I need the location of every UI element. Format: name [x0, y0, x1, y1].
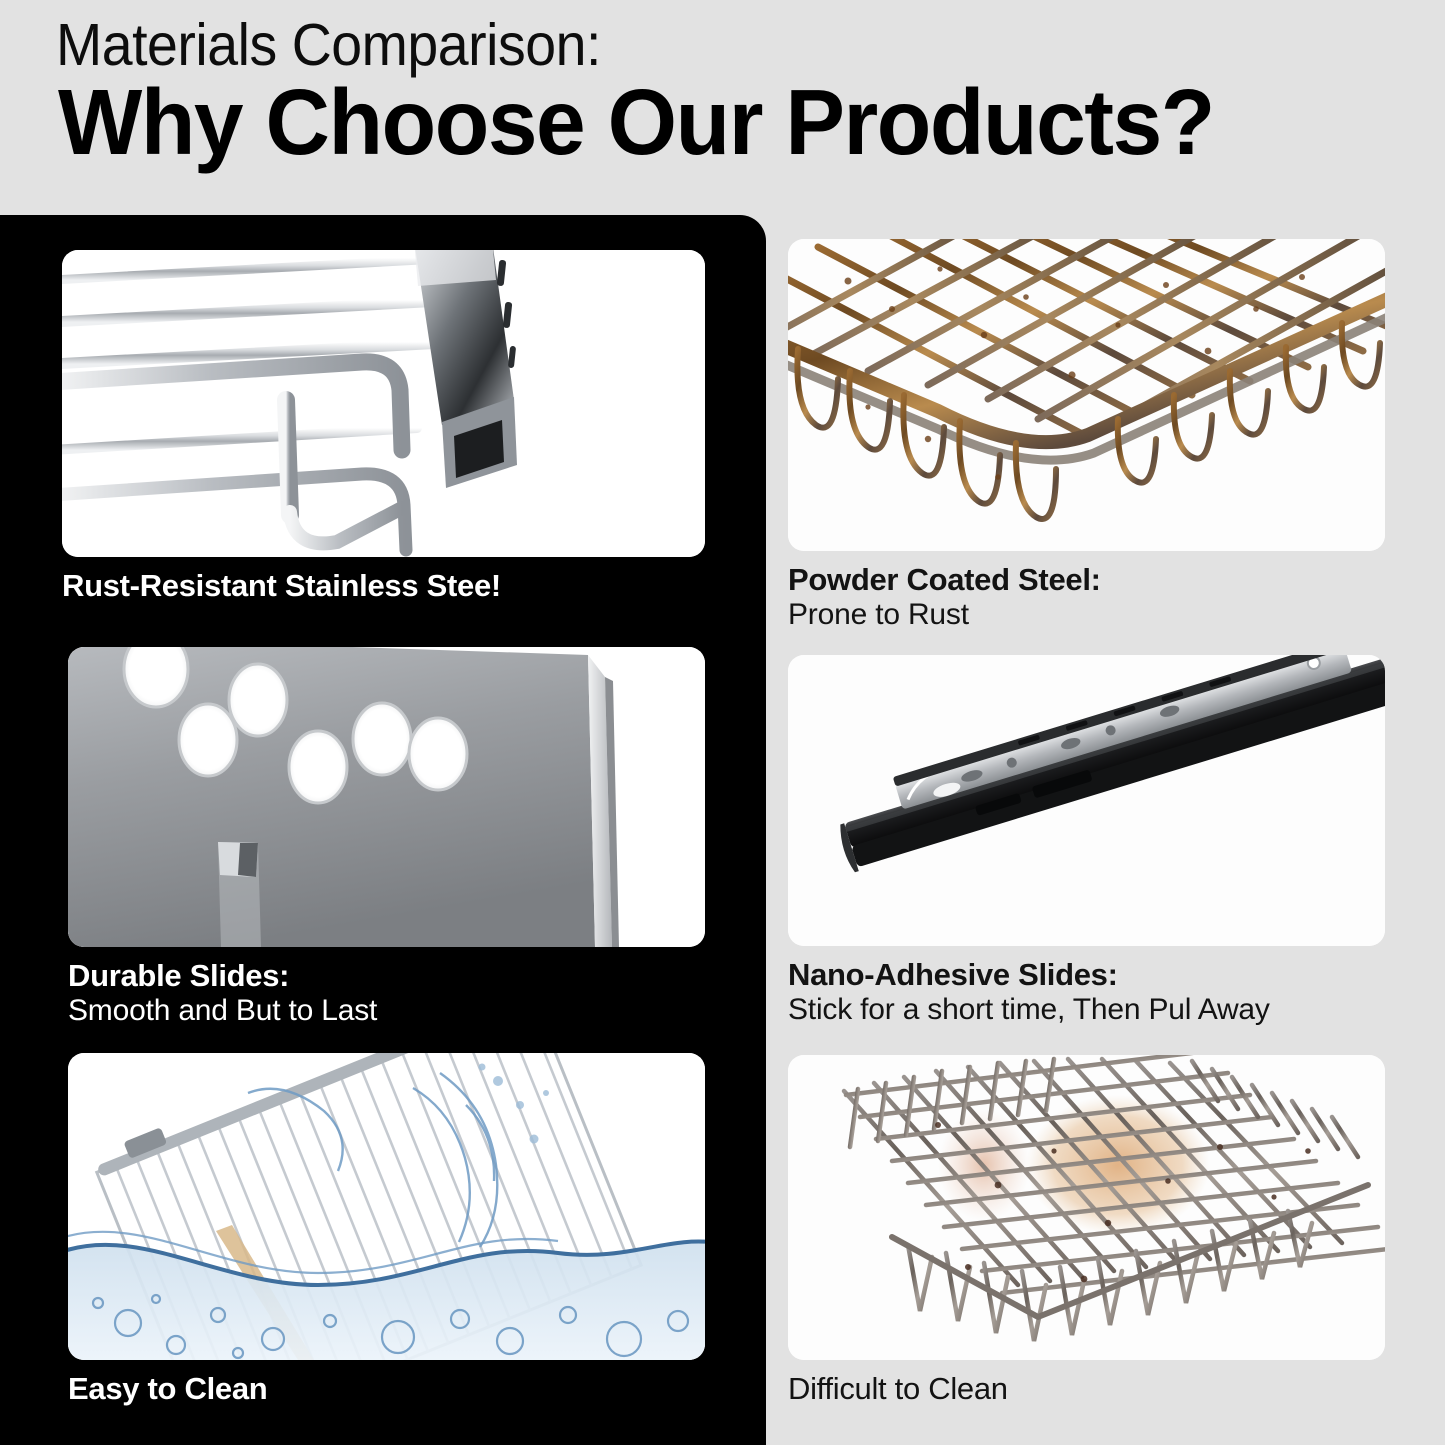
header-subtitle: Materials Comparison:: [56, 16, 601, 75]
chrome-wire-rack-corner-image: [62, 250, 705, 557]
infographic-root: Materials Comparison: Why Choose Our Pro…: [0, 0, 1445, 1445]
ours-item-2-caption: Durable Slides: Smooth and But to Last: [68, 958, 705, 1029]
ours-column: Rust-Resistant Stainless Stee!: [0, 215, 700, 1445]
ours-item-3-title: Easy to Clean: [68, 1371, 705, 1407]
theirs-item-3-image-card: [788, 1055, 1385, 1360]
rusty-wire-basket-corner-image: [788, 239, 1385, 551]
theirs-item-2-subtitle: Stick for a short time, Then Pul Away: [788, 993, 1385, 1028]
theirs-item-1-title: Powder Coated Steel:: [788, 562, 1385, 598]
theirs-item-2-image-card: [788, 655, 1385, 946]
theirs-item-3-title: Difficult to Clean: [788, 1371, 1385, 1407]
ours-item-2-subtitle: Smooth and But to Last: [68, 994, 705, 1029]
theirs-item-1: Powder Coated Steel: Prone to Rust: [788, 239, 1385, 633]
theirs-item-3: Difficult to Clean: [788, 1055, 1385, 1407]
theirs-item-1-subtitle: Prone to Rust: [788, 598, 1385, 633]
theirs-item-2: Nano-Adhesive Slides: Stick for a short …: [788, 655, 1385, 1028]
ours-item-2-title: Durable Slides:: [68, 958, 705, 994]
black-drawer-slide-rail-image: [788, 655, 1385, 946]
theirs-item-1-image-card: [788, 239, 1385, 551]
ours-item-1-image-card: [62, 250, 705, 557]
ours-item-3-caption: Easy to Clean: [68, 1371, 705, 1407]
theirs-item-3-caption: Difficult to Clean: [788, 1371, 1385, 1407]
dirty-stained-wire-basket-image: [788, 1055, 1385, 1360]
ours-item-1-title: Rust-Resistant Stainless Stee!: [62, 568, 705, 604]
metal-slide-plate-with-holes-image: [68, 647, 705, 947]
wire-rack-water-splash-image: [68, 1053, 705, 1360]
theirs-item-1-caption: Powder Coated Steel: Prone to Rust: [788, 562, 1385, 633]
theirs-item-2-title: Nano-Adhesive Slides:: [788, 957, 1385, 993]
ours-item-3-image-card: [68, 1053, 705, 1360]
ours-item-3: Easy to Clean: [68, 1053, 705, 1407]
ours-item-2-image-card: [68, 647, 705, 947]
ours-item-2: Durable Slides: Smooth and But to Last: [68, 647, 705, 1029]
ours-item-1-caption: Rust-Resistant Stainless Stee!: [62, 568, 705, 604]
ours-item-1: Rust-Resistant Stainless Stee!: [62, 250, 705, 604]
theirs-column: Powder Coated Steel: Prone to Rust: [766, 215, 1445, 1445]
theirs-item-2-caption: Nano-Adhesive Slides: Stick for a short …: [788, 957, 1385, 1028]
header: Materials Comparison: Why Choose Our Pro…: [0, 0, 1445, 215]
page-title: Why Choose Our Products?: [58, 76, 1214, 169]
